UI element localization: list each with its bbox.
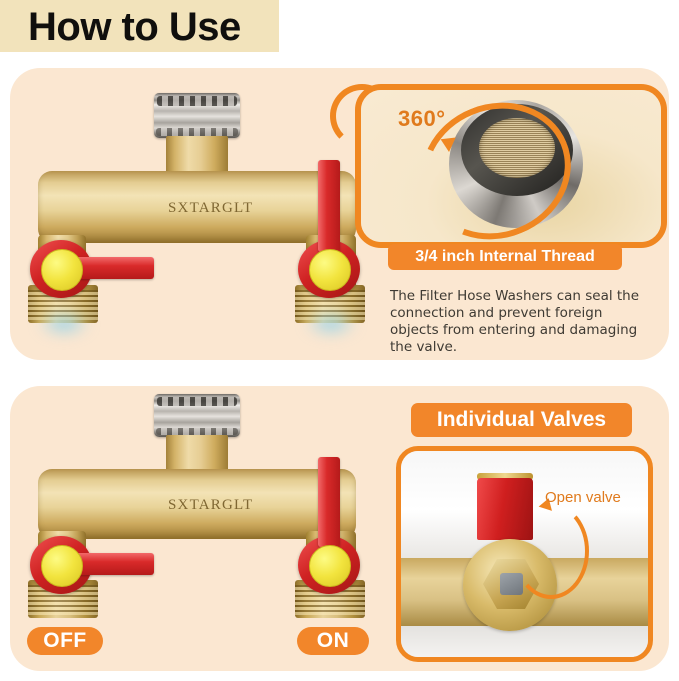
right-valve-lever bbox=[318, 160, 340, 252]
open-valve-arrow-icon bbox=[513, 503, 589, 599]
brand-engraving-bottom: SXTARGLT bbox=[168, 497, 253, 514]
closeup-floor-background bbox=[401, 626, 648, 657]
state-badge-off: OFF bbox=[27, 627, 103, 655]
right-valve-cap bbox=[309, 249, 351, 291]
chrome-inlet-nut-icon bbox=[154, 93, 240, 138]
water-glow-right bbox=[305, 312, 357, 336]
left-valve-cap-bottom bbox=[41, 545, 83, 587]
callout-open-valve-closeup bbox=[396, 446, 653, 662]
badge-individual-valves: Individual Valves bbox=[411, 403, 632, 437]
badge-thread-size: 3/4 inch Internal Thread bbox=[388, 244, 622, 270]
water-glow-left bbox=[38, 312, 90, 336]
brand-engraving: SXTARGLT bbox=[168, 200, 253, 217]
right-valve-lever-bottom-on bbox=[318, 457, 340, 547]
right-valve-cap-bottom bbox=[309, 545, 351, 587]
thread-description-text: The Filter Hose Washers can seal the con… bbox=[390, 288, 640, 356]
chrome-inlet-nut-icon-bottom bbox=[154, 394, 240, 437]
left-valve-cap bbox=[41, 249, 83, 291]
state-badge-on: ON bbox=[297, 627, 369, 655]
label-360-degrees: 360° bbox=[398, 106, 446, 132]
page-title: How to Use bbox=[28, 4, 241, 50]
label-open-valve: Open valve bbox=[545, 489, 621, 506]
